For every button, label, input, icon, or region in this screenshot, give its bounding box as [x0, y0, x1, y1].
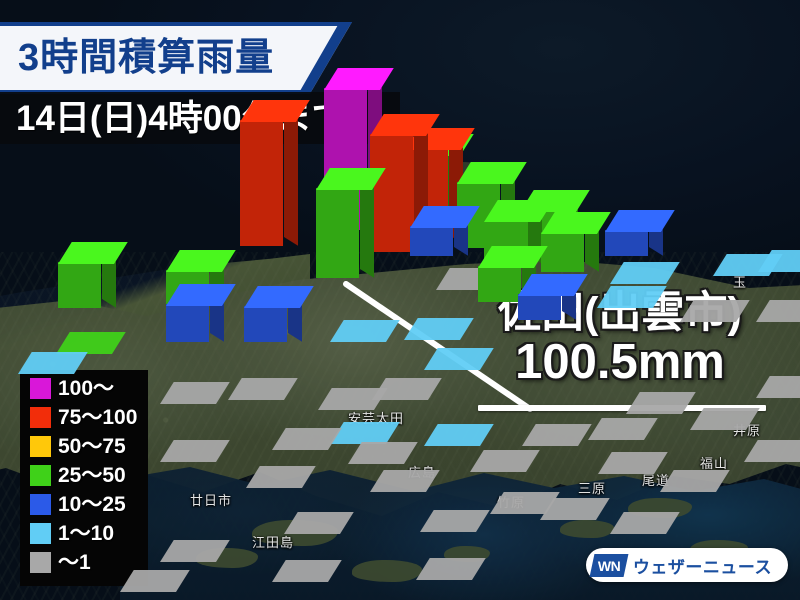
weather-radar-screenshot: 安芸太田広島廿日市江田島竹原三原尾道福山井原玉 佐田(出雲市) 100.5mm …: [0, 0, 800, 600]
islet: [560, 520, 614, 538]
rainfall-cell-side: [284, 111, 298, 246]
rainfall-cell-front: [166, 304, 209, 342]
legend-label: 〜1: [58, 552, 91, 573]
legend-row: 10〜25: [20, 490, 148, 519]
legend-row: 25〜50: [20, 461, 148, 490]
rainfall-cell-front: [410, 226, 453, 256]
legend-label: 1〜10: [58, 523, 114, 544]
legend-swatch: [30, 494, 51, 515]
legend-swatch: [30, 378, 51, 399]
rainfall-cell-front: [518, 294, 561, 320]
legend-swatch: [30, 552, 51, 573]
legend-label: 25〜50: [58, 465, 126, 486]
rainfall-cell-front: [370, 134, 413, 252]
weathernews-logo[interactable]: WN ウェザーニュース: [586, 548, 788, 582]
rainfall-cell-front: [58, 262, 101, 308]
legend-row: 100〜: [20, 374, 148, 403]
rainfall-cell-front: [316, 188, 359, 278]
legend-swatch: [30, 523, 51, 544]
legend-label: 75〜100: [58, 407, 137, 428]
legend-label: 50〜75: [58, 436, 126, 457]
page-title: 3時間積算雨量: [18, 39, 274, 77]
islet: [352, 560, 422, 582]
rainfall-cell-front: [240, 120, 283, 246]
wn-badge-label: WN: [598, 557, 620, 573]
legend-swatch: [30, 465, 51, 486]
rainfall-cell-front: [541, 232, 584, 272]
legend-row: 〜1: [20, 548, 148, 577]
wn-badge-icon: WN: [589, 554, 628, 577]
rainfall-cell-front: [605, 230, 648, 256]
rainfall-cell-front: [244, 306, 287, 342]
legend-row: 1〜10: [20, 519, 148, 548]
legend-swatch: [30, 436, 51, 457]
legend-swatch: [30, 407, 51, 428]
legend-label: 100〜: [58, 378, 114, 399]
logo-brand-text: ウェザーニュース: [633, 553, 772, 578]
rainfall-cell-side: [360, 179, 374, 278]
legend-row: 75〜100: [20, 403, 148, 432]
title-banner: 3時間積算雨量: [0, 22, 352, 94]
legend-label: 10〜25: [58, 494, 126, 515]
rainfall-cell-front: [478, 266, 521, 302]
legend-row: 50〜75: [20, 432, 148, 461]
rainfall-legend: 100〜75〜10050〜7525〜5010〜251〜10〜1: [20, 370, 148, 586]
